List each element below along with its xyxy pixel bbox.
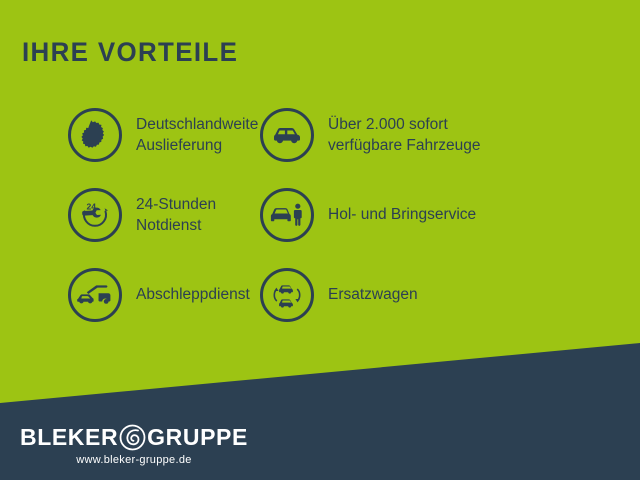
benefit-row: Abschleppdienst (0, 255, 640, 335)
benefit-item-label: Ersatzwagen (328, 284, 418, 305)
benefit-item-abschleppdienst[interactable]: Abschleppdienst (0, 255, 250, 335)
benefit-item-label: Deutschlandweite Auslieferung (136, 114, 258, 157)
benefit-item-label: Über 2.000 sofort verfügbare Fahrzeuge (328, 114, 481, 157)
benefit-item-ersatzwagen[interactable]: Ersatzwagen (250, 255, 570, 335)
benefit-row: 24 24-Stunden Notdienst (0, 175, 640, 255)
benefit-item-label: 24-Stunden Notdienst (136, 194, 216, 237)
company-logo[interactable]: BLEKER GRUPPE www.bleker-gruppe.de (20, 424, 248, 466)
benefit-item-verfuegbare-fahrzeuge[interactable]: Über 2.000 sofort verfügbare Fahrzeuge (250, 95, 570, 175)
benefits-list: Deutschlandweite Auslieferung Über 2.000… (0, 95, 640, 335)
logo-wordmark: BLEKER GRUPPE (20, 424, 248, 451)
tow-truck-icon (68, 268, 122, 322)
slide-canvas: IHRE VORTEILE Deutschlandweite Ausliefer… (0, 0, 640, 480)
24-hour-wrench-icon: 24 (68, 188, 122, 242)
benefit-row: Deutschlandweite Auslieferung Über 2.000… (0, 95, 640, 175)
car-icon (260, 108, 314, 162)
germany-map-icon (68, 108, 122, 162)
benefit-item-label: Abschleppdienst (136, 284, 250, 305)
logo-word-gruppe: GRUPPE (147, 424, 248, 451)
page-title: IHRE VORTEILE (22, 37, 238, 68)
benefit-item-hol-und-bringservice[interactable]: Hol- und Bringservice (250, 175, 570, 255)
spiral-circle-logo-icon (119, 424, 146, 451)
car-with-person-icon (260, 188, 314, 242)
logo-word-bleker: BLEKER (20, 424, 118, 451)
benefit-item-label: Hol- und Bringservice (328, 204, 476, 225)
logo-website-url[interactable]: www.bleker-gruppe.de (76, 454, 191, 466)
benefit-item-24-stunden-notdienst[interactable]: 24 24-Stunden Notdienst (0, 175, 250, 255)
two-cars-exchange-icon (260, 268, 314, 322)
benefit-item-deutschlandweite-auslieferung[interactable]: Deutschlandweite Auslieferung (0, 95, 250, 175)
